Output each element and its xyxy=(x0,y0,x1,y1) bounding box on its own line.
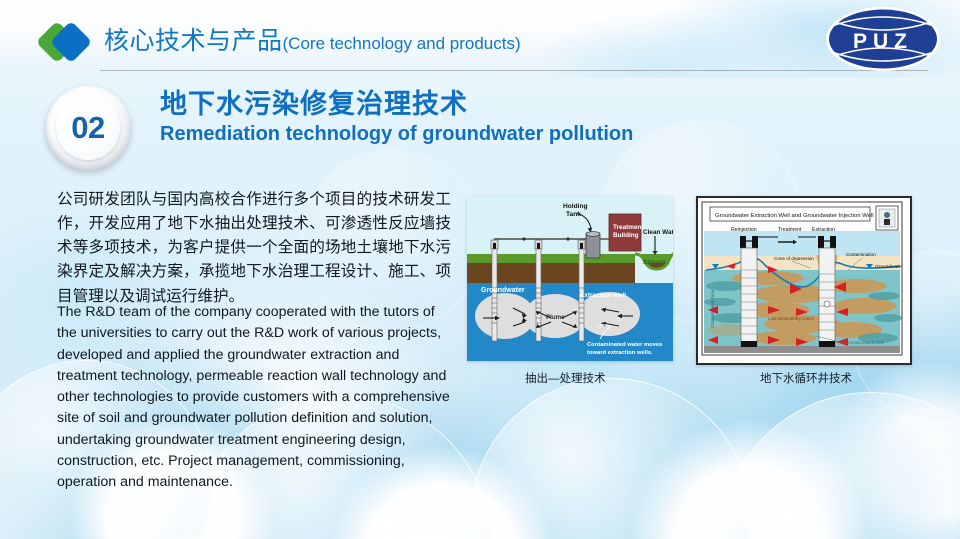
section-number-badge: 02 xyxy=(46,86,130,170)
label-holding-tank: Holding xyxy=(563,203,588,210)
label-extraction: Extraction xyxy=(812,227,835,233)
label-plume: Plume xyxy=(546,314,565,321)
header-title-en: (Core technology and products) xyxy=(283,34,521,53)
label-contaminated-zone-left: Contaminated zone xyxy=(710,289,715,328)
label-stream: Stream xyxy=(643,259,665,266)
figure-caption-2: 地下水循环井技术 xyxy=(760,370,852,386)
label-groundwater: Groundwater xyxy=(875,264,903,270)
label-treatment-building: Treatment xyxy=(613,224,644,231)
svg-text:toward extraction wells.: toward extraction wells. xyxy=(587,350,653,356)
label-clean-water: Clean Water xyxy=(643,229,673,236)
body-paragraph-english: The R&D team of the company cooperated w… xyxy=(57,302,451,494)
label-contamination: Contamination xyxy=(846,252,876,257)
svg-text:PUZ: PUZ xyxy=(853,30,913,53)
header-divider xyxy=(100,70,928,71)
pump-and-treat-svg: Holding Tank Treatment Building Clean Wa… xyxy=(467,196,673,361)
label-treatment: Treatment xyxy=(778,227,802,233)
section-number: 02 xyxy=(71,110,104,146)
label-groundwater: Groundwater xyxy=(481,287,525,294)
label-cone-of-depression: Cone of depression xyxy=(774,256,814,261)
header-title: 核心技术与产品(Core technology and products) xyxy=(104,21,521,57)
label-note: Contaminated water moves xyxy=(587,342,662,348)
label-contaminated-zone: Contaminated zone xyxy=(848,340,885,345)
svg-text:Building: Building xyxy=(613,232,639,239)
svg-text:Tank: Tank xyxy=(566,211,581,218)
section-title-cn: 地下水污染修复治理技术 xyxy=(160,89,633,120)
background-bubble xyxy=(470,378,752,539)
circulation-well-svg: Groundwater Extraction Well and Groundwa… xyxy=(698,198,906,359)
label-diagram-title: Groundwater Extraction Well and Groundwa… xyxy=(715,213,874,219)
section-number-badge-inner: 02 xyxy=(56,96,120,160)
label-extraction-well: Extraction Well xyxy=(580,292,626,299)
section-title-en: Remediation technology of groundwater po… xyxy=(160,123,633,146)
label-low-permeability: Low permeability zones xyxy=(768,316,815,321)
green-blue-diamond-logo-icon xyxy=(40,20,98,64)
header-title-cn: 核心技术与产品 xyxy=(104,27,283,55)
slide-canvas: 核心技术与产品(Core technology and products) PU… xyxy=(0,0,960,539)
body-paragraph-chinese: 公司研发团队与国内高校合作进行多个项目的技术研发工作，开发应用了地下水抽出处理技… xyxy=(57,188,451,309)
section-title: 地下水污染修复治理技术 Remediation technology of gr… xyxy=(160,89,633,146)
puz-company-logo: PUZ xyxy=(824,5,942,73)
figure-caption-1: 抽出—处理技术 xyxy=(525,370,606,386)
figure-pump-and-treat[interactable]: Holding Tank Treatment Building Clean Wa… xyxy=(467,196,673,361)
label-reinjection: Reinjection xyxy=(731,227,757,233)
slide-header: 核心技术与产品(Core technology and products) PU… xyxy=(0,0,960,78)
figure-groundwater-circulation-well[interactable]: Groundwater Extraction Well and Groundwa… xyxy=(696,196,912,365)
